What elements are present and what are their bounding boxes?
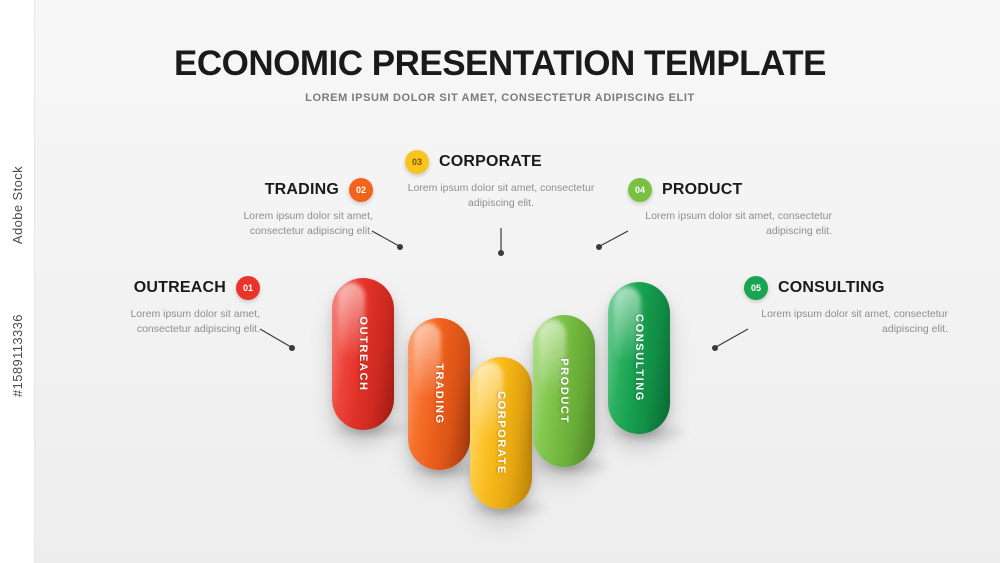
pill-label-corporate: CORPORATE <box>495 391 507 475</box>
step-badge-trading: 02 <box>349 178 373 202</box>
step-title-corporate: CORPORATE <box>439 153 542 171</box>
pill-label-consulting: CONSULTING <box>633 314 645 402</box>
step-badge-consulting: 05 <box>744 276 768 300</box>
step-title-consulting: CONSULTING <box>778 279 885 297</box>
pill-consulting[interactable]: CONSULTING <box>608 282 670 434</box>
step-badge-outreach: 01 <box>236 276 260 300</box>
watermark-strip: #1589113336 Adobe Stock <box>0 0 35 563</box>
step-badge-product: 04 <box>628 178 652 202</box>
connector-corporate <box>492 228 512 260</box>
step-head-product: 04 PRODUCT <box>628 178 833 202</box>
step-head-corporate: 03 CORPORATE <box>405 150 597 174</box>
step-desc-trading: Lorem ipsum dolor sit amet, consectetur … <box>198 209 373 239</box>
pill-corporate[interactable]: CORPORATE <box>470 357 532 509</box>
pill-label-outreach: OUTREACH <box>357 316 369 391</box>
step-title-outreach: OUTREACH <box>134 279 226 297</box>
page-title: ECONOMIC PRESENTATION TEMPLATE <box>0 44 1000 84</box>
watermark-brand: Adobe Stock <box>10 166 25 244</box>
connector-outreach <box>258 326 308 356</box>
step-head-trading: TRADING 02 <box>168 178 373 202</box>
watermark-text: #1589113336 Adobe Stock <box>0 0 34 563</box>
step-badge-corporate: 03 <box>405 150 429 174</box>
step-label-corporate[interactable]: 03 CORPORATE Lorem ipsum dolor sit amet,… <box>405 150 597 211</box>
pill-outreach[interactable]: OUTREACH <box>332 278 394 430</box>
pill-trading[interactable]: TRADING <box>408 318 470 470</box>
step-head-consulting: 05 CONSULTING <box>744 276 949 300</box>
step-title-product: PRODUCT <box>662 181 743 199</box>
connector-consulting <box>706 326 756 356</box>
step-desc-consulting: Lorem ipsum dolor sit amet, consectetur … <box>756 307 948 337</box>
step-label-consulting[interactable]: 05 CONSULTING Lorem ipsum dolor sit amet… <box>744 276 949 337</box>
step-label-trading[interactable]: TRADING 02 Lorem ipsum dolor sit amet, c… <box>168 178 373 239</box>
pill-product[interactable]: PRODUCT <box>533 315 595 467</box>
connector-trading <box>370 228 420 258</box>
step-desc-corporate: Lorem ipsum dolor sit amet, consectetur … <box>405 181 597 211</box>
step-head-outreach: OUTREACH 01 <box>55 276 260 300</box>
pill-label-trading: TRADING <box>433 363 445 424</box>
step-title-trading: TRADING <box>265 181 339 199</box>
step-desc-outreach: Lorem ipsum dolor sit amet, consectetur … <box>85 307 260 337</box>
watermark-id: #1589113336 <box>10 314 25 397</box>
step-label-outreach[interactable]: OUTREACH 01 Lorem ipsum dolor sit amet, … <box>55 276 260 337</box>
step-desc-product: Lorem ipsum dolor sit amet, consectetur … <box>640 209 832 239</box>
pill-label-product: PRODUCT <box>558 358 570 424</box>
slide-canvas: ECONOMIC PRESENTATION TEMPLATE LOREM IPS… <box>0 0 1000 563</box>
step-label-product[interactable]: 04 PRODUCT Lorem ipsum dolor sit amet, c… <box>628 178 833 239</box>
page-subtitle: LOREM IPSUM DOLOR SIT AMET, CONSECTETUR … <box>0 92 1000 104</box>
connector-product <box>592 228 637 258</box>
